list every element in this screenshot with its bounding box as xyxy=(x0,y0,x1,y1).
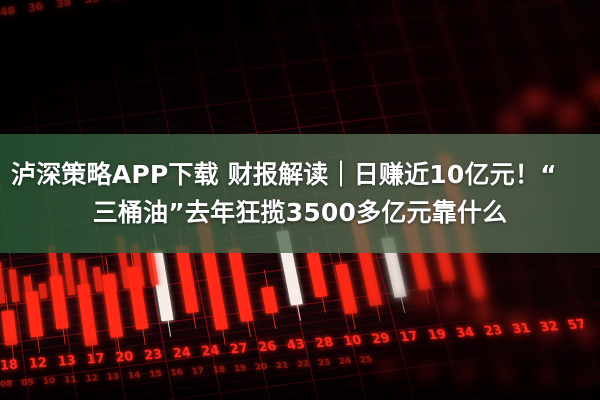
candle-body xyxy=(63,253,76,296)
candle-body xyxy=(24,276,34,300)
candle-body xyxy=(175,245,198,313)
candle-body xyxy=(335,264,357,315)
bokeh-spot xyxy=(556,100,584,128)
candle-body xyxy=(48,246,62,297)
candle-body xyxy=(1,310,17,346)
bokeh-spot xyxy=(540,318,562,340)
candle-body xyxy=(261,286,278,313)
bokeh-spot xyxy=(538,370,554,386)
bokeh-spot xyxy=(458,366,476,384)
candle-body xyxy=(39,283,48,299)
candle-body xyxy=(307,252,328,297)
bokeh-spot xyxy=(418,364,436,382)
headline-band: 泸深策略APP下载 财报解读｜日赚近10亿元！“ 三桶油”去年狂揽3500多亿元… xyxy=(0,134,600,253)
candle-body xyxy=(0,262,5,304)
candle-body xyxy=(9,269,20,302)
bokeh-spot xyxy=(410,288,432,310)
candle-body xyxy=(108,274,117,290)
bokeh-spot xyxy=(520,86,550,116)
bokeh-spot xyxy=(575,322,595,342)
bokeh-spot xyxy=(578,372,593,387)
bokeh-spot xyxy=(498,110,522,134)
headline-line-1: 泸深策略APP下载 财报解读｜日赚近10亿元！“ xyxy=(0,156,557,194)
bokeh-spot xyxy=(378,360,396,378)
headline-line-2: 三桶油”去年狂揽3500多亿元靠什么 xyxy=(93,194,508,232)
stock-news-banner: 4836383921302740 18121317202324242726432… xyxy=(0,0,600,400)
bokeh-spot xyxy=(498,368,515,385)
bokeh-spot xyxy=(505,312,529,336)
bokeh-spot xyxy=(470,300,496,326)
bokeh-spot xyxy=(440,292,464,316)
candle-body xyxy=(93,267,103,292)
candle-body xyxy=(77,284,97,346)
candle-body xyxy=(228,248,253,322)
